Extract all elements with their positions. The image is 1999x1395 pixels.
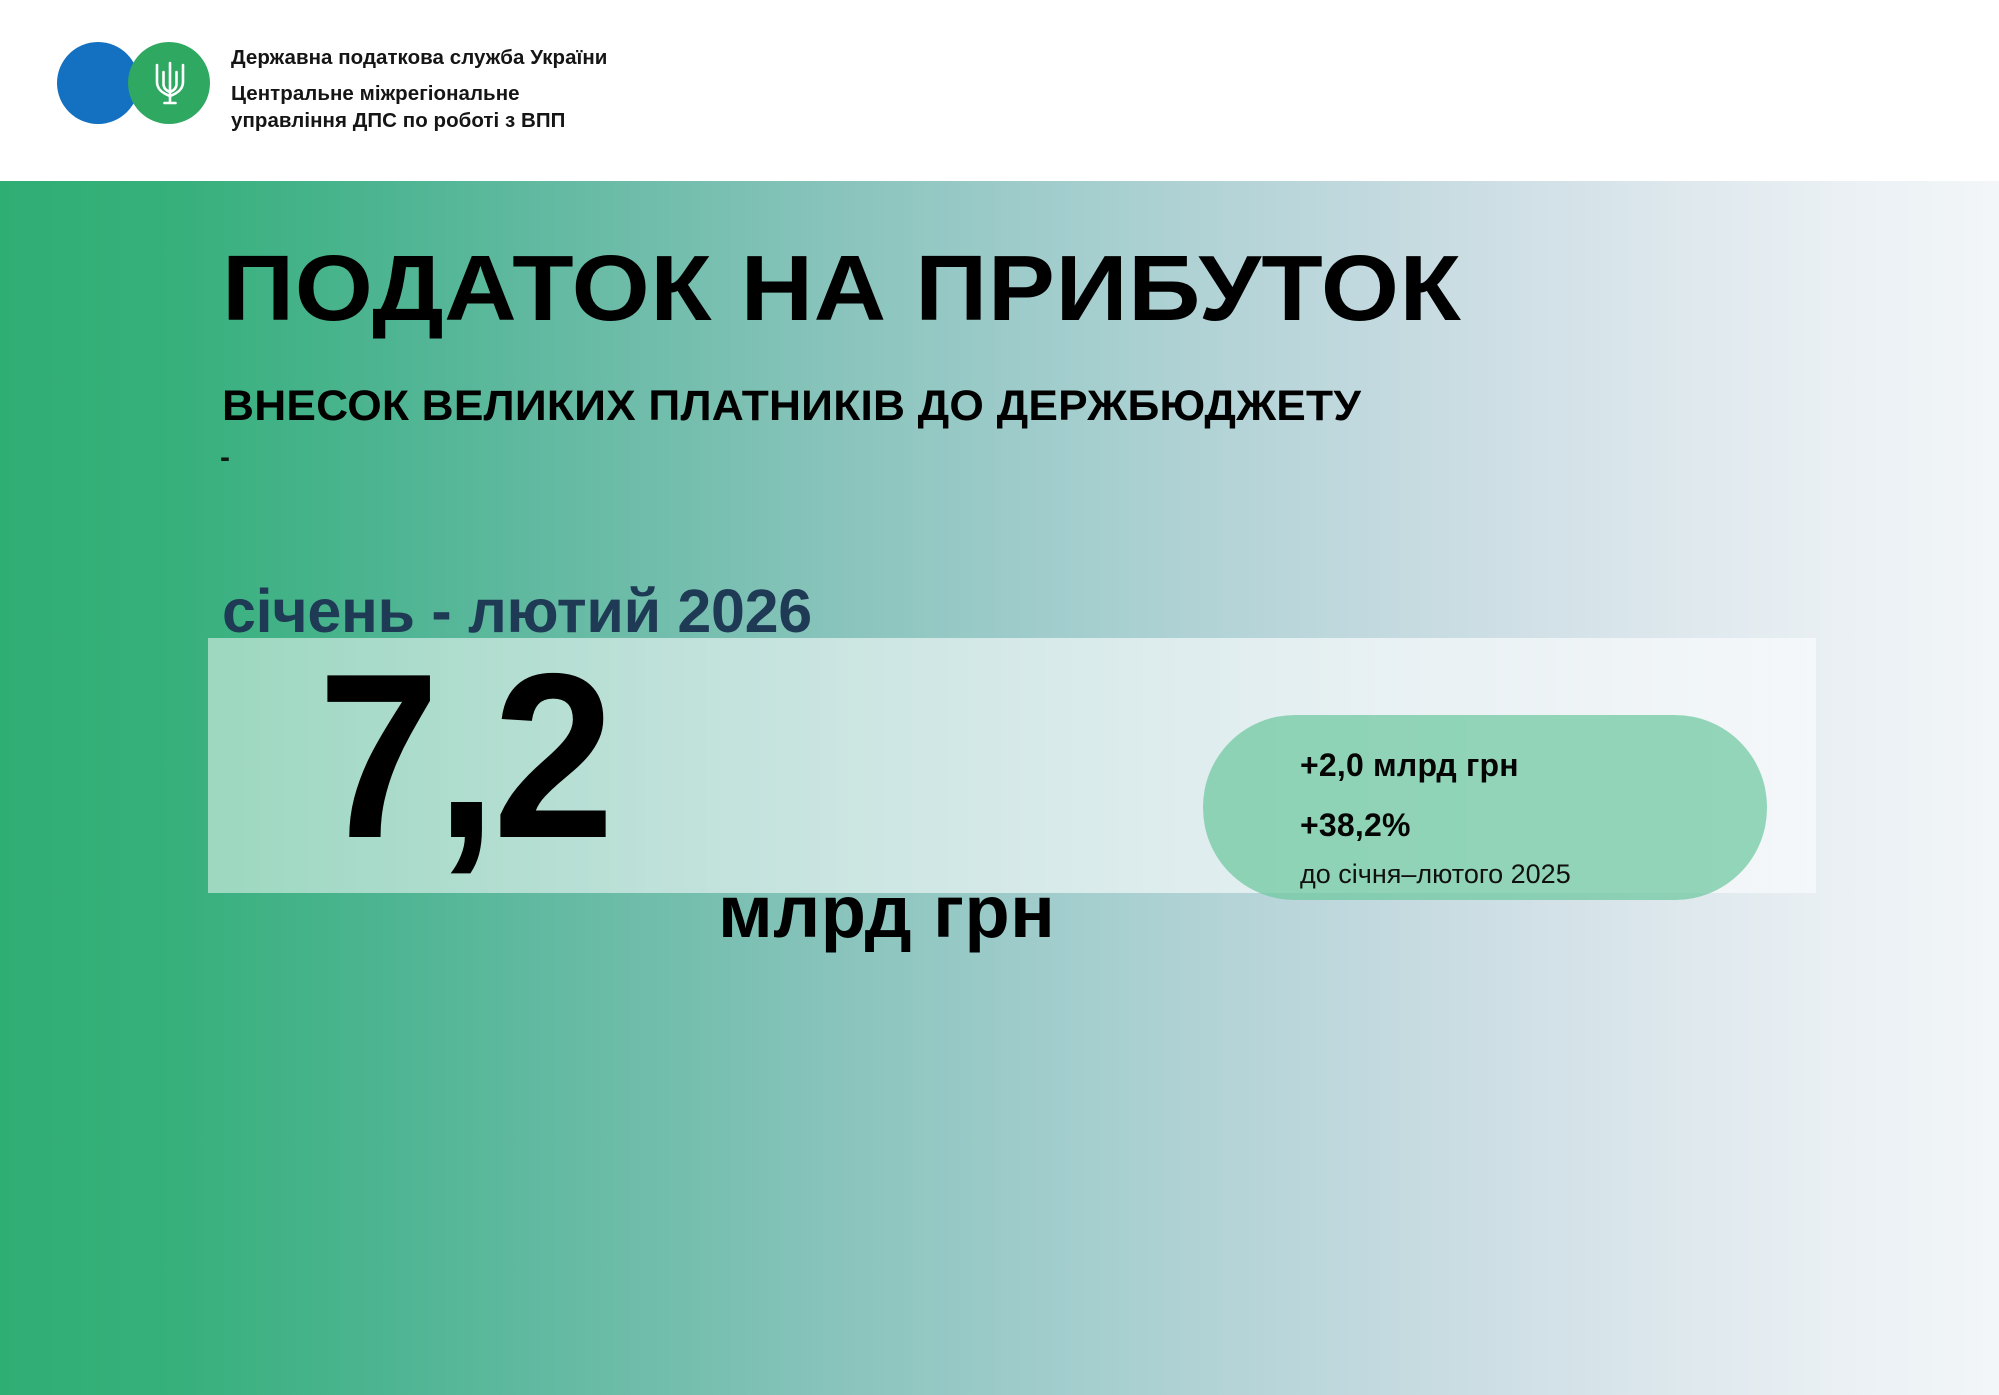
growth-percent: +38,2% — [1300, 805, 1411, 845]
dps-logo — [57, 42, 210, 124]
logo-blue-circle-icon — [57, 42, 139, 124]
page-subtitle: ВНЕСОК ВЕЛИКИХ ПЛАТНИКІВ ДО ДЕРЖБЮДЖЕТУ — [222, 382, 1361, 430]
growth-comparison: до січня–лютого 2025 — [1300, 857, 1571, 891]
dash-artifact: - — [220, 448, 230, 468]
ukraine-trident-icon — [151, 56, 189, 110]
org-name-line-2: Центральне міжрегіональне — [231, 80, 1131, 108]
page-title: ПОДАТОК НА ПРИБУТОК — [222, 240, 1461, 336]
org-name-line-1: Державна податкова служба України — [231, 44, 1131, 72]
org-name-block: Державна податкова служба України Центра… — [231, 44, 1131, 135]
value-amount: 7,2 — [318, 638, 611, 873]
org-name-line-3: управління ДПС по роботі з ВПП — [231, 107, 1131, 135]
page-header: Державна податкова служба України Центра… — [0, 0, 1999, 181]
growth-absolute: +2,0 млрд грн — [1300, 745, 1519, 785]
value-unit: млрд грн — [718, 872, 1055, 952]
